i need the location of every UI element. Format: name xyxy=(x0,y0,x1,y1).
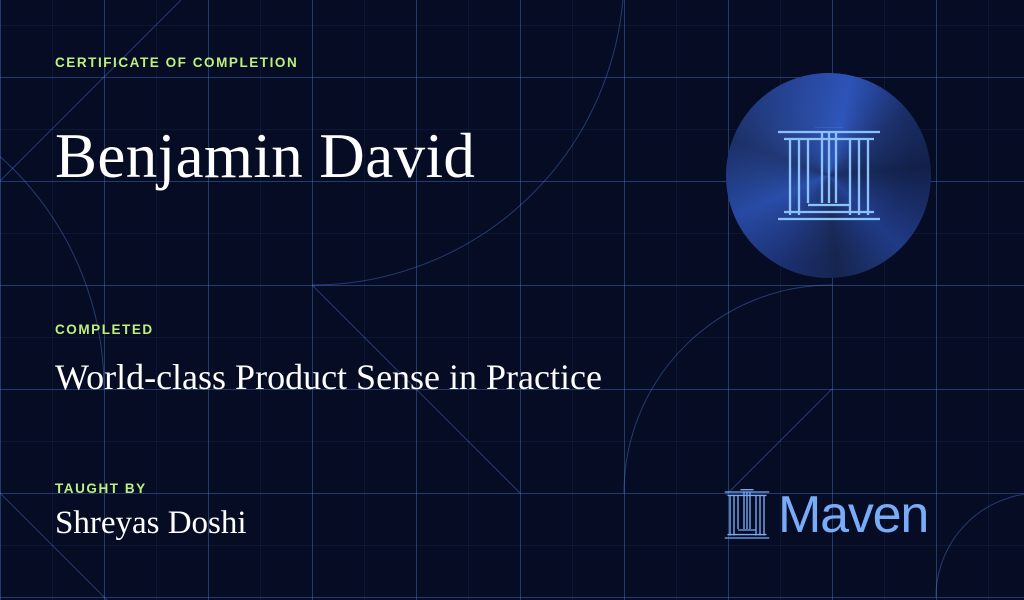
recipient-name: Benjamin David xyxy=(55,123,475,190)
eyebrow-completed: COMPLETED xyxy=(55,322,154,337)
eyebrow-certificate-of-completion: CERTIFICATE OF COMPLETION xyxy=(55,55,298,70)
diagonal-bottom-left xyxy=(0,487,110,600)
course-title: World-class Product Sense in Practice xyxy=(55,357,602,397)
instructor-name: Shreyas Doshi xyxy=(55,505,247,542)
eyebrow-taught-by: TAUGHT BY xyxy=(55,481,147,496)
certificate-canvas: CERTIFICATE OF COMPLETION Benjamin David… xyxy=(0,0,1024,600)
maven-pillar-badge-icon xyxy=(777,127,881,225)
maven-badge-circle xyxy=(726,73,931,278)
arc-bottom-right xyxy=(624,285,832,493)
maven-wordmark: Maven xyxy=(778,489,928,541)
diagonal-bottom-right xyxy=(726,389,832,495)
arc-far-bottom-right xyxy=(936,493,1024,597)
maven-pillar-icon xyxy=(724,489,770,541)
maven-logo-lockup[interactable]: Maven xyxy=(724,489,928,541)
